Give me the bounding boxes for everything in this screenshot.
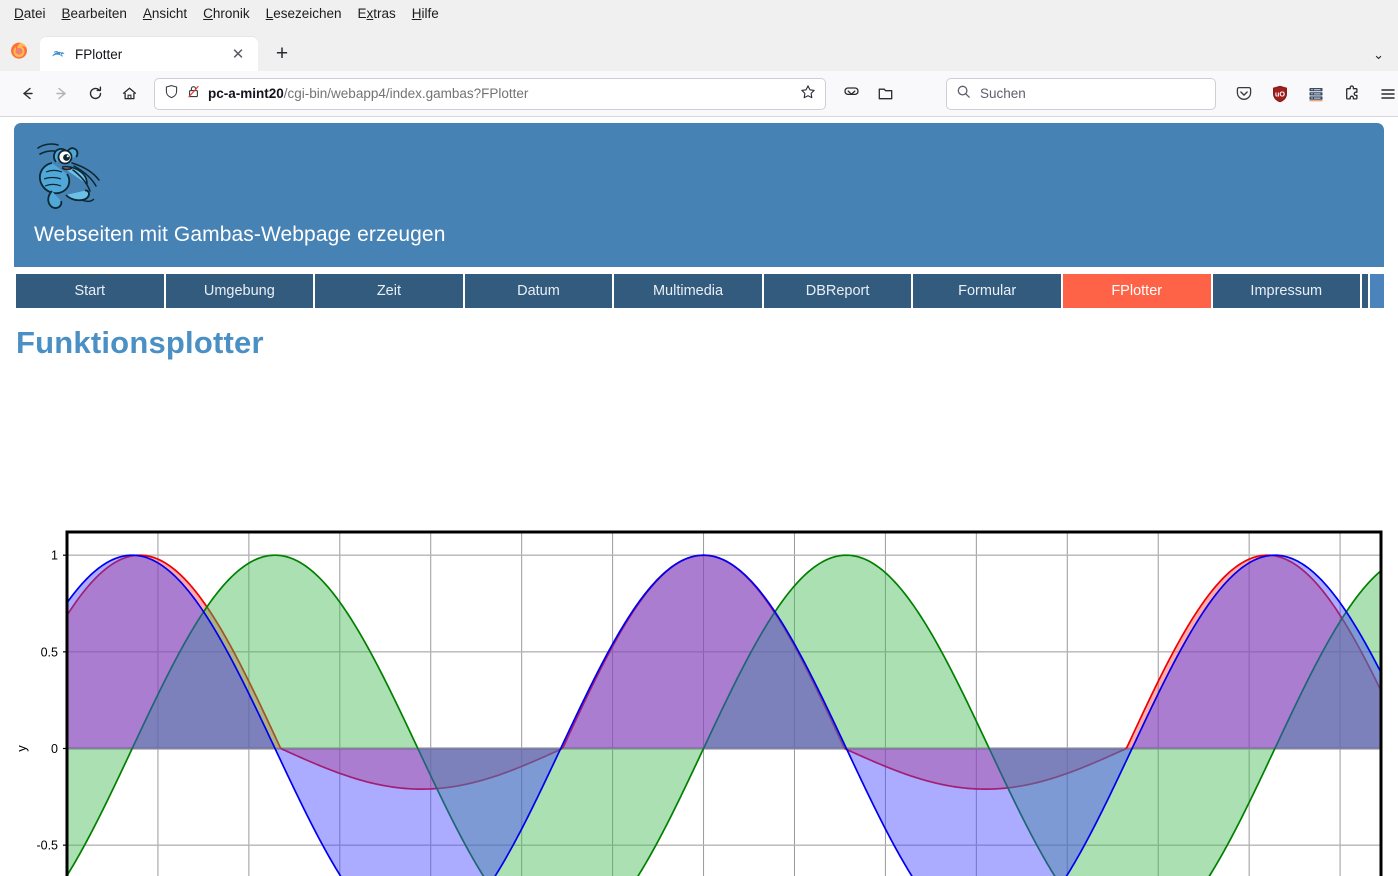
gambas-favicon-icon [50,46,67,63]
chevron-down-icon[interactable]: ⌄ [1373,47,1384,63]
new-tab-button[interactable]: + [268,40,296,68]
forward-button-icon[interactable] [44,78,78,110]
menu-lesezeichen[interactable]: Lesezeichen [258,4,350,24]
y-tick-label: 1 [51,549,58,563]
navigation-toolbar: pc-a-mint20/cgi-bin/webapp4/index.gambas… [0,71,1398,117]
nav-scroll-rail[interactable] [1370,274,1384,308]
svg-text:uO: uO [1275,89,1285,98]
shield-icon[interactable] [164,84,179,104]
save-to-pocket-icon[interactable] [834,78,868,110]
menu-hilfe[interactable]: Hilfe [404,4,447,24]
menu-datei[interactable]: Datei [6,4,54,24]
url-host: pc-a-mint20 [208,86,284,101]
tab-strip: FPlotter ✕ + ⌄ [0,28,1398,71]
menu-extras[interactable]: Extras [350,4,404,24]
close-icon[interactable]: ✕ [228,44,248,64]
nav-tab-dbreport[interactable]: DBReport [764,274,914,308]
url-bar[interactable]: pc-a-mint20/cgi-bin/webapp4/index.gambas… [154,78,826,110]
y-tick-label: -0.5 [36,839,58,853]
bookmark-star-icon[interactable] [800,84,816,104]
banner-title: Webseiten mit Gambas-Webpage erzeugen [34,223,445,247]
nav-tab-impressum[interactable]: Impressum [1213,274,1363,308]
nav-tab-fplotter[interactable]: FPlotter [1063,274,1213,308]
nav-tab-umgebung[interactable]: Umgebung [166,274,316,308]
reload-button-icon[interactable] [78,78,112,110]
nav-tab-start[interactable]: Start [16,274,166,308]
toolbar-icons: uO [1228,78,1398,110]
y-axis-label: y [14,745,29,752]
browser-tab-fplotter[interactable]: FPlotter ✕ [40,37,258,71]
nav-tab-zeit[interactable]: Zeit [315,274,465,308]
insecure-lock-icon[interactable] [186,84,201,104]
search-bar[interactable]: Suchen [946,78,1216,110]
tab-title: FPlotter [75,47,220,62]
container-tabs-icon[interactable] [868,78,902,110]
function-plot: -7-6-5-4-3-2-101234567-1-0.500.51y [0,517,1398,876]
page-title: Funktionsplotter [16,325,1398,361]
site-navigation: Start Umgebung Zeit Datum Multimedia DBR… [14,274,1384,308]
home-button-icon[interactable] [112,78,146,110]
nav-tab-overflow[interactable] [1362,274,1370,308]
menu-chronik[interactable]: Chronik [195,4,258,24]
library-icon[interactable] [1300,78,1332,110]
y-tick-label: 0.5 [41,645,58,659]
nav-tab-datum[interactable]: Datum [465,274,615,308]
url-text: pc-a-mint20/cgi-bin/webapp4/index.gambas… [208,86,793,101]
nav-tab-multimedia[interactable]: Multimedia [614,274,764,308]
search-input-placeholder[interactable]: Suchen [980,86,1026,101]
extensions-icon[interactable] [1336,78,1368,110]
back-button-icon[interactable] [10,78,44,110]
app-menu-icon[interactable] [1372,78,1398,110]
nav-tab-formular[interactable]: Formular [913,274,1063,308]
search-icon [956,84,971,104]
menu-bearbeiten[interactable]: Bearbeiten [54,4,135,24]
url-path: /cgi-bin/webapp4/index.gambas?FPlotter [284,86,529,101]
y-tick-label: 0 [51,742,58,756]
ublock-origin-icon[interactable]: uO [1264,78,1296,110]
menu-ansicht[interactable]: Ansicht [135,4,195,24]
pocket-icon[interactable] [1228,78,1260,110]
site-banner: Webseiten mit Gambas-Webpage erzeugen [14,123,1384,267]
page-content: Webseiten mit Gambas-Webpage erzeugen St… [0,123,1398,361]
firefox-logo-icon [4,28,34,71]
firefox-menubar: Datei Bearbeiten Ansicht Chronik Lesezei… [0,0,1398,28]
gambas-shrimp-logo [32,133,127,218]
